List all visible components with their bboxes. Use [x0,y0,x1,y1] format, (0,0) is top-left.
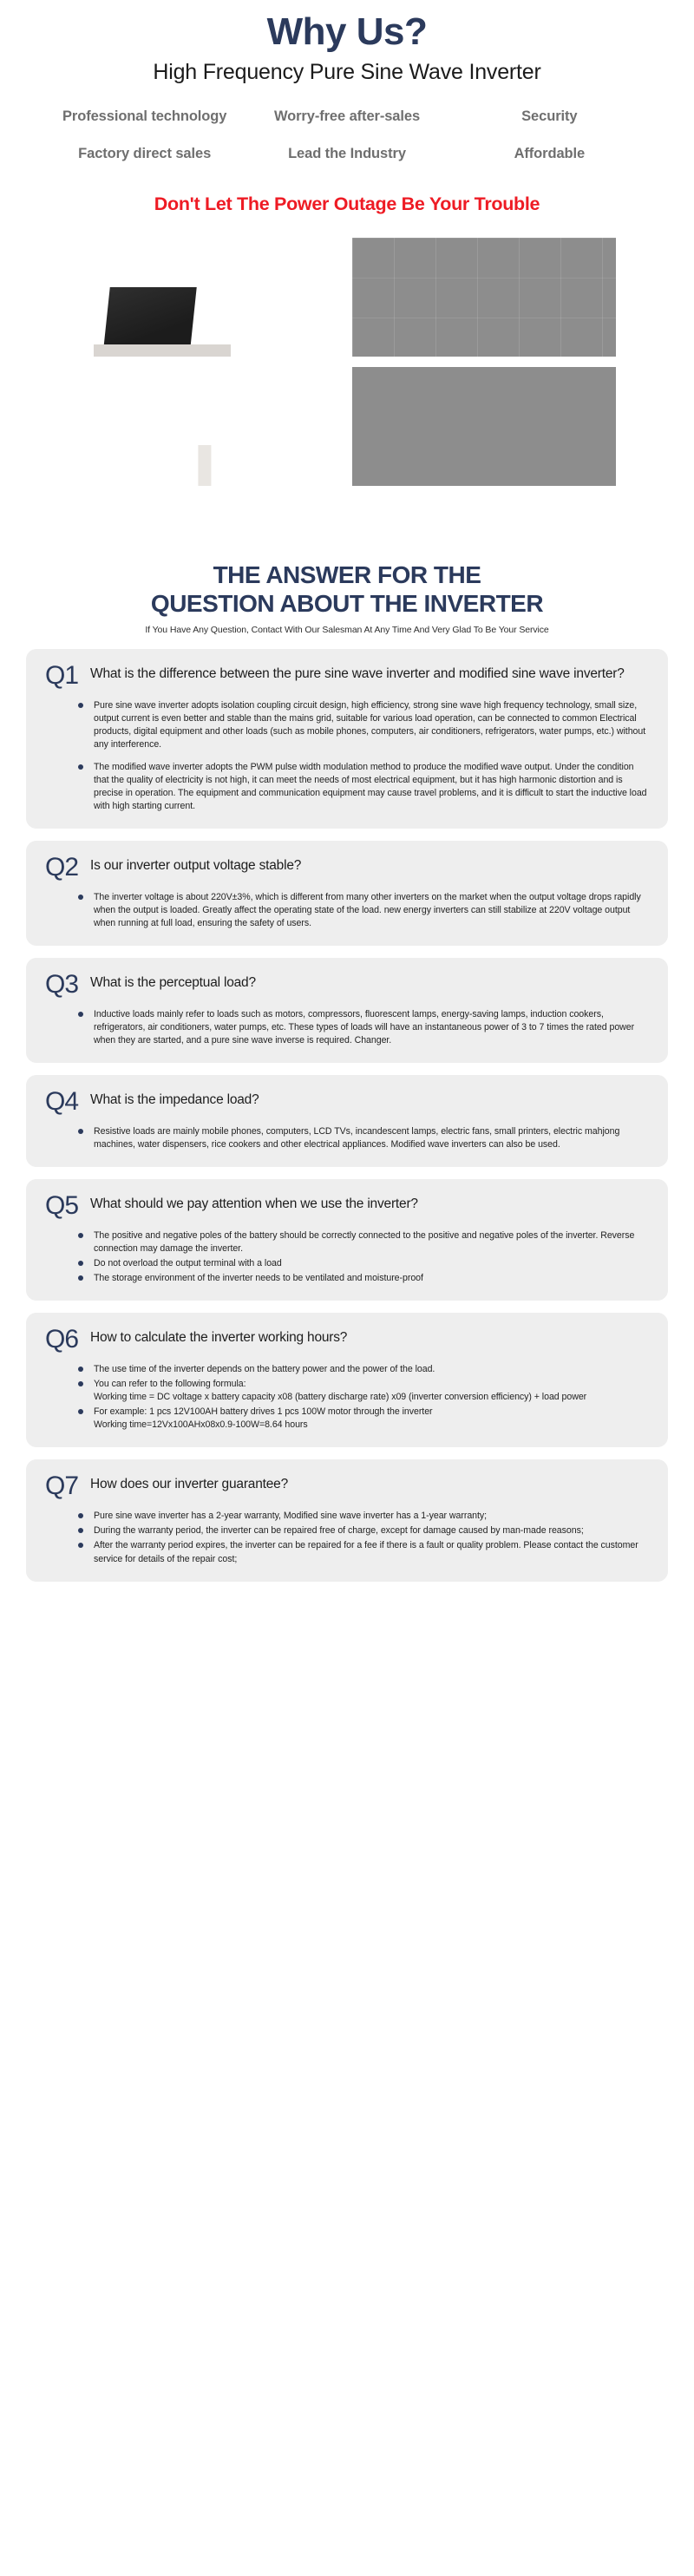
bullet-icon [78,1381,83,1386]
feature-item-worry-free-after-sales: Worry-free after-sales [246,108,448,126]
bullet-icon [78,1409,83,1414]
photo-angry-man-at-laptop [78,238,342,357]
faq-question: How to calculate the inverter working ho… [90,1327,347,1347]
faq-answer-item: Inductive loads mainly refer to loads su… [75,1008,649,1047]
bullet-icon [78,703,83,708]
faq-header: Q7 How does our inverter guarantee? [45,1473,649,1499]
faq-answer-list: Pure sine wave inverter adopts isolation… [75,699,649,813]
page-subtitle: High Frequency Pure Sine Wave Inverter [0,61,694,85]
faq-card-q6[interactable]: Q6 How to calculate the inverter working… [26,1313,668,1447]
faq-number: Q6 [45,1327,78,1353]
faq-card-q3[interactable]: Q3 What is the perceptual load? Inductiv… [26,958,668,1063]
hero-section: Why Us? High Frequency Pure Sine Wave In… [0,0,694,85]
faq-header: Q2 Is our inverter output voltage stable… [45,855,649,881]
faq-answer-text: The use time of the inverter depends on … [94,1364,435,1374]
faq-header: Q1 What is the difference between the pu… [45,663,649,689]
faq-answer-item: Pure sine wave inverter adopts isolation… [75,699,649,751]
answer-section-header: THE ANSWER FOR THE QUESTION ABOUT THE IN… [0,560,694,635]
faq-answer-text: The positive and negative poles of the b… [94,1230,634,1254]
faq-question: How does our inverter guarantee? [90,1473,288,1493]
faq-answer-text: After the warranty period expires, the i… [94,1540,638,1563]
faq-answer-text: For example: 1 pcs 12V100AH battery driv… [94,1406,433,1430]
faq-number: Q7 [45,1473,78,1499]
bullet-icon [78,1012,83,1017]
bullet-icon [78,1233,83,1238]
bullet-icon [78,1543,83,1548]
faq-answer-text: During the warranty period, the inverter… [94,1525,584,1536]
faq-answer-list: The inverter voltage is about 220V±3%, w… [75,891,649,930]
page-title: Why Us? [0,12,694,52]
feature-item-lead-the-industry: Lead the Industry [246,145,448,163]
faq-answer-item: During the warranty period, the inverter… [75,1524,649,1537]
faq-header: Q4 What is the impedance load? [45,1089,649,1115]
faq-number: Q3 [45,972,78,998]
photo-grid [78,238,616,486]
photo-shouting-man-covering-ears [352,367,616,486]
bullet-icon [78,1129,83,1134]
promo-banner-text: Don't Let The Power Outage Be Your Troub… [0,193,694,215]
faq-answer-text: Do not overload the output terminal with… [94,1258,282,1268]
faq-number: Q4 [45,1089,78,1115]
faq-card-q5[interactable]: Q5 What should we pay attention when we … [26,1179,668,1301]
bullet-icon [78,1261,83,1266]
faq-answer-item: The inverter voltage is about 220V±3%, w… [75,891,649,930]
faq-answer-item: Resistive loads are mainly mobile phones… [75,1125,649,1151]
faq-answer-list: Pure sine wave inverter has a 2-year war… [75,1510,649,1565]
faq-answer-text: The storage environment of the inverter … [94,1273,423,1283]
faq-answer-item: The modified wave inverter adopts the PW… [75,761,649,813]
bullet-icon [78,1513,83,1518]
feature-item-factory-direct-sales: Factory direct sales [43,145,246,163]
bullet-icon [78,1528,83,1533]
faq-answer-text: You can refer to the following formula: … [94,1379,586,1402]
bullet-icon [78,1275,83,1281]
faq-answer-list: Inductive loads mainly refer to loads su… [75,1008,649,1047]
feature-grid: Professional technology Worry-free after… [43,108,651,164]
faq-card-q7[interactable]: Q7 How does our inverter guarantee? Pure… [26,1459,668,1581]
faq-question: What is the perceptual load? [90,972,256,992]
faq-answer-list: Resistive loads are mainly mobile phones… [75,1125,649,1151]
faq-answer-item: The use time of the inverter depends on … [75,1363,649,1376]
faq-answer-list: The use time of the inverter depends on … [75,1363,649,1432]
answer-subtitle: If You Have Any Question, Contact With O… [0,625,694,635]
faq-answer-text: Resistive loads are mainly mobile phones… [94,1126,619,1150]
faq-answer-item: You can refer to the following formula: … [75,1378,649,1404]
faq-card-q1[interactable]: Q1 What is the difference between the pu… [26,649,668,829]
faq-answer-list: The positive and negative poles of the b… [75,1229,649,1285]
faq-card-q4[interactable]: Q4 What is the impedance load? Resistive… [26,1075,668,1167]
faq-number: Q2 [45,855,78,881]
faq-question: What should we pay attention when we use… [90,1193,418,1213]
faq-header: Q3 What is the perceptual load? [45,972,649,998]
faq-answer-text: Inductive loads mainly refer to loads su… [94,1009,634,1045]
feature-item-affordable: Affordable [448,145,651,163]
photo-woman-with-game-controller-on-sofa [352,238,616,357]
faq-answer-text: Pure sine wave inverter has a 2-year war… [94,1511,487,1521]
faq-card-q2[interactable]: Q2 Is our inverter output voltage stable… [26,841,668,946]
faq-number: Q1 [45,663,78,689]
faq-answer-item: The positive and negative poles of the b… [75,1229,649,1255]
bullet-icon [78,1367,83,1372]
faq-header: Q6 How to calculate the inverter working… [45,1327,649,1353]
faq-answer-item: After the warranty period expires, the i… [75,1539,649,1565]
faq-answer-text: The inverter voltage is about 220V±3%, w… [94,892,641,928]
faq-list: Q1 What is the difference between the pu… [26,649,668,1582]
answer-title-line-1: THE ANSWER FOR THE [0,560,694,589]
answer-title-line-2: QUESTION ABOUT THE INVERTER [0,589,694,618]
faq-answer-item: Pure sine wave inverter has a 2-year war… [75,1510,649,1523]
faq-question: What is the difference between the pure … [90,663,625,683]
faq-answer-item: Do not overload the output terminal with… [75,1257,649,1270]
faq-question: Is our inverter output voltage stable? [90,855,301,875]
feature-item-professional-technology: Professional technology [43,108,246,126]
faq-answer-text: Pure sine wave inverter adopts isolation… [94,700,645,750]
faq-answer-item: The storage environment of the inverter … [75,1272,649,1285]
faq-header: Q5 What should we pay attention when we … [45,1193,649,1219]
bullet-icon [78,895,83,900]
faq-answer-text: The modified wave inverter adopts the PW… [94,762,647,811]
photo-frustrated-man-in-suit [78,367,342,486]
bullet-icon [78,764,83,770]
faq-answer-item: For example: 1 pcs 12V100AH battery driv… [75,1406,649,1432]
feature-item-security: Security [448,108,651,126]
faq-number: Q5 [45,1193,78,1219]
faq-question: What is the impedance load? [90,1089,259,1109]
